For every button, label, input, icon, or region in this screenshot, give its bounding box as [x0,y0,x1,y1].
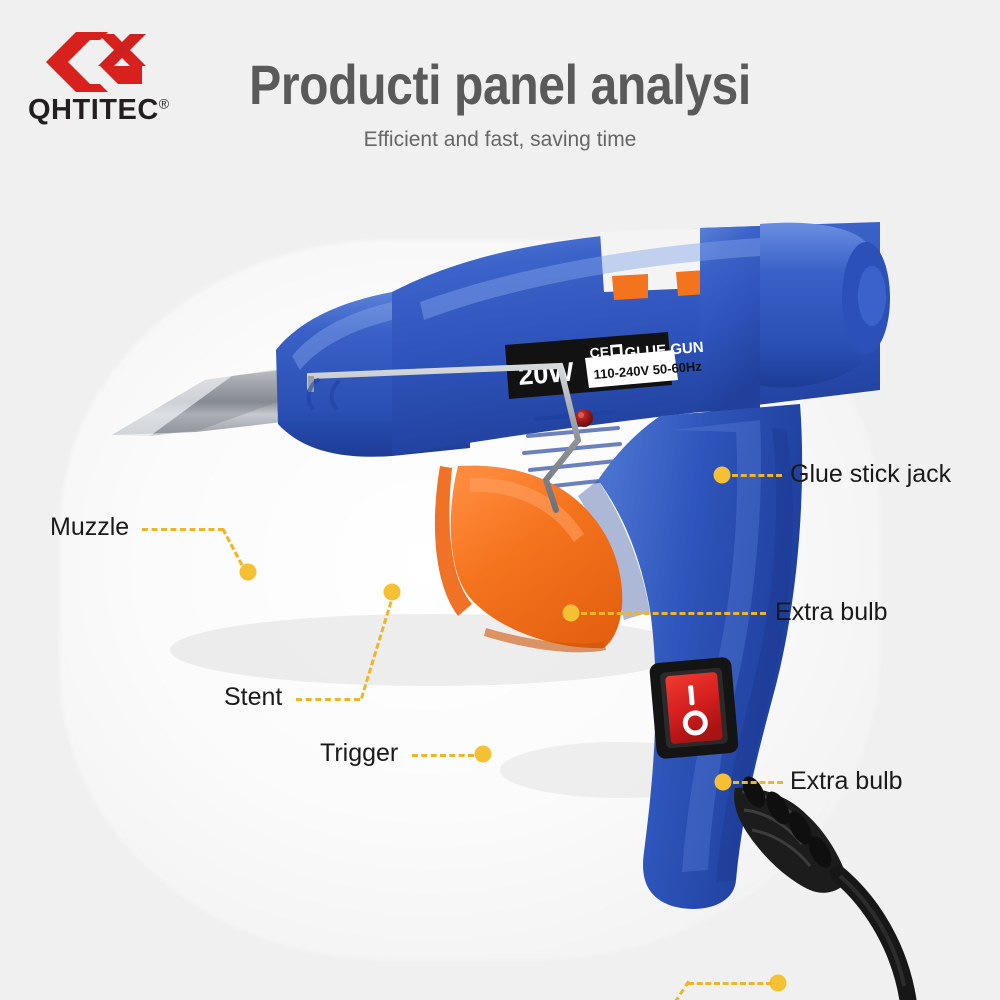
power-cord [734,773,908,1000]
callout-label-stent: Stent [224,685,282,710]
indicator-led [575,409,593,427]
product-panel-analysis-page: QHTITEC® Producti panel analysi Efficien… [0,0,1000,1000]
nozzle-part [112,366,300,436]
callout-leader-trigger [412,754,474,757]
callout-dot-extra-bulb-led[interactable] [563,605,580,622]
callout-leader-glue-stick-jack [732,474,782,477]
glue-gun-illustration: 20W CE GLUE GUN 110-240V 50-60Hz [0,180,1000,1000]
callout-leader-power-card [688,982,772,985]
callout-label-extra-bulb-led: Extra bulb [775,600,888,625]
callout-dot-power-card[interactable] [770,975,787,992]
callout-label-extra-bulb-grip: Extra bulb [790,769,903,794]
callout-dot-muzzle[interactable] [240,564,257,581]
page-title: Producti panel analysi [70,52,930,117]
callout-dot-glue-stick-jack[interactable] [714,467,731,484]
callout-label-glue-stick-jack: Glue stick jack [790,462,951,487]
callout-dot-trigger[interactable] [475,746,492,763]
callout-label-muzzle: Muzzle [50,515,129,540]
callout-leader-extra-bulb-grip [733,781,783,784]
callout-leader-extra-bulb-led [581,612,766,615]
product-stage: 20W CE GLUE GUN 110-240V 50-60Hz [0,180,1000,1000]
callout-dot-extra-bulb-grip[interactable] [715,774,732,791]
callout-label-trigger: Trigger [320,741,398,766]
callout-leader-muzzle [142,528,224,531]
power-switch[interactable] [649,657,739,760]
callout-leader-stent [296,698,360,701]
page-subtitle: Efficient and fast, saving time [0,128,1000,152]
callout-dot-stent[interactable] [384,584,401,601]
